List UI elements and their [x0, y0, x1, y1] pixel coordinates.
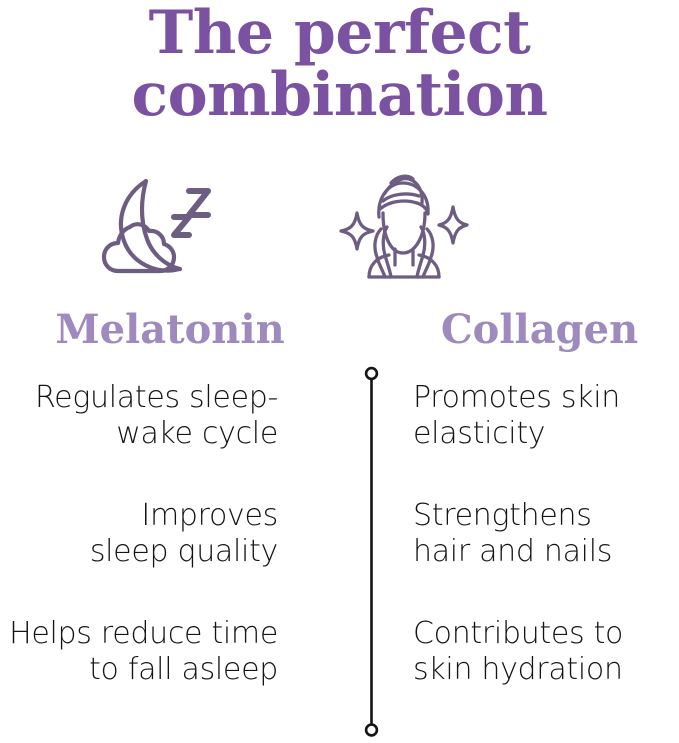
divider-top-circle-icon	[366, 368, 377, 379]
benefit-line-2: hair and nails	[413, 534, 679, 570]
infographic-canvas: The perfect combination	[0, 0, 679, 739]
icon-row	[0, 172, 679, 282]
benefit-line-1: Promotes skin	[413, 380, 620, 415]
moon-cloud-zzz-icon	[80, 172, 240, 282]
benefit-item: Improves sleep quality	[8, 498, 278, 616]
benefit-line-2: sleep quality	[8, 534, 278, 570]
section-heading-collagen: Collagen	[400, 306, 679, 354]
benefit-line-1: Helps reduce time	[9, 616, 278, 651]
section-heading-melatonin: Melatonin	[0, 306, 340, 354]
woman-skincare-sparkle-icon	[323, 172, 483, 282]
benefit-columns: Regulates sleep- wake cycle Improves sle…	[0, 380, 679, 720]
page-title: The perfect combination	[0, 2, 679, 126]
page-title-line-2: combination	[0, 64, 679, 126]
benefit-line-2: elasticity	[413, 416, 679, 452]
benefit-item: Regulates sleep- wake cycle	[8, 380, 278, 498]
page-title-line-1: The perfect	[0, 2, 679, 64]
benefit-item: Contributes to skin hydration	[413, 616, 679, 734]
benefit-line-1: Regulates sleep-	[35, 380, 278, 415]
benefit-line-1: Improves	[141, 498, 278, 533]
benefit-item: Promotes skin elasticity	[413, 380, 679, 498]
benefit-line-1: Contributes to	[413, 616, 623, 651]
benefit-line-1: Strengthens	[413, 498, 592, 533]
benefit-column-melatonin: Regulates sleep- wake cycle Improves sle…	[8, 380, 278, 734]
benefit-item: Helps reduce time to fall asleep	[8, 616, 278, 734]
section-headings: Melatonin Collagen	[0, 306, 679, 356]
benefit-line-2: wake cycle	[8, 416, 278, 452]
benefit-line-2: to fall asleep	[8, 652, 278, 688]
divider-bottom-circle-icon	[366, 725, 377, 736]
benefit-line-2: skin hydration	[413, 652, 679, 688]
benefit-item: Strengthens hair and nails	[413, 498, 679, 616]
benefit-column-collagen: Promotes skin elasticity Strengthens hai…	[413, 380, 679, 734]
